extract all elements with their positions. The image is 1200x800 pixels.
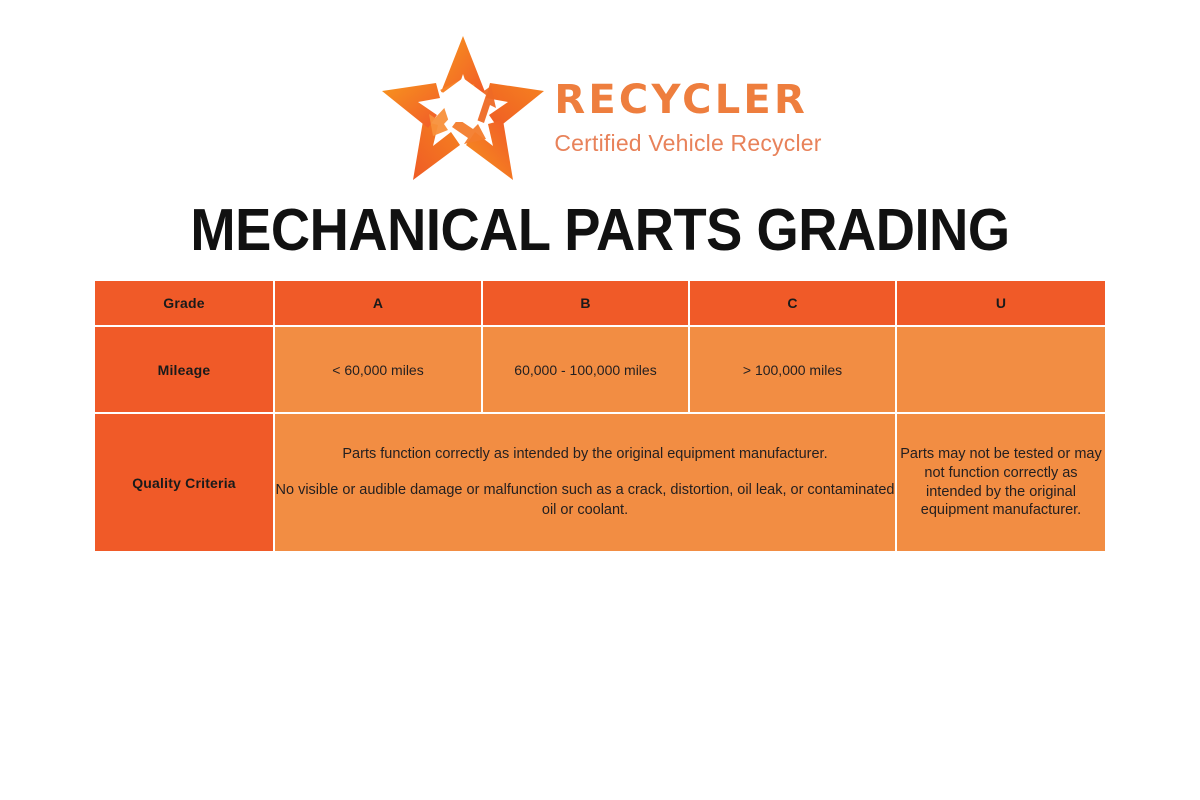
logo-wordmark: RECYCLER Certified Vehicle Recycler bbox=[554, 62, 821, 155]
table-row-quality-criteria: Quality Criteria Parts function correctl… bbox=[95, 414, 1105, 551]
quality-criteria-u-text: Parts may not be tested or may not funct… bbox=[897, 445, 1105, 519]
row-label-quality-criteria: Quality Criteria bbox=[95, 414, 275, 551]
recycling-star-icon bbox=[378, 32, 548, 184]
table-row-mileage: Mileage < 60,000 miles 60,000 - 100,000 … bbox=[95, 327, 1105, 414]
brand-logo: RECYCLER Certified Vehicle Recycler bbox=[0, 28, 1200, 188]
row-label-mileage: Mileage bbox=[95, 327, 275, 414]
mileage-grade-a-value: < 60,000 miles bbox=[275, 327, 483, 414]
column-header-b: B bbox=[483, 281, 690, 327]
quality-criteria-u-cell: Parts may not be tested or may not funct… bbox=[897, 414, 1105, 551]
column-header-grade: Grade bbox=[95, 281, 275, 327]
column-header-a: A bbox=[275, 281, 483, 327]
quality-criteria-paragraph-1: Parts function correctly as intended by … bbox=[275, 445, 895, 465]
mechanical-parts-grading-table: Grade A B C U Mileage < 60,000 miles 60,… bbox=[95, 281, 1105, 551]
mileage-grade-b-value: 60,000 - 100,000 miles bbox=[483, 327, 690, 414]
brand-name: RECYCLER bbox=[554, 80, 821, 120]
mileage-grade-c-value: > 100,000 miles bbox=[690, 327, 897, 414]
quality-criteria-paragraph-2: No visible or audible damage or malfunct… bbox=[275, 481, 895, 520]
brand-tagline: Certified Vehicle Recycler bbox=[554, 132, 821, 155]
page-title: MECHANICAL PARTS GRADING bbox=[48, 196, 1152, 264]
logo-inner: RECYCLER Certified Vehicle Recycler bbox=[378, 32, 821, 184]
quality-criteria-abc-cell: Parts function correctly as intended by … bbox=[275, 414, 897, 551]
mileage-grade-u-value bbox=[897, 327, 1105, 414]
table-header-row: Grade A B C U bbox=[95, 281, 1105, 327]
column-header-u: U bbox=[897, 281, 1105, 327]
column-header-c: C bbox=[690, 281, 897, 327]
